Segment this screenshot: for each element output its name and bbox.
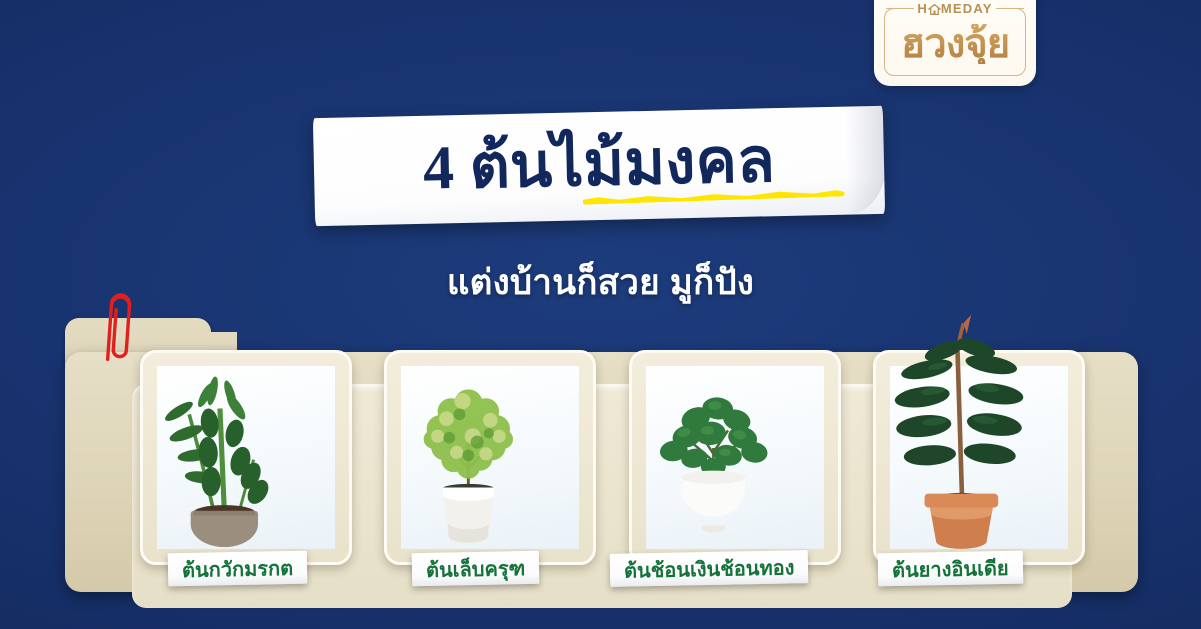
logo-brand-row: H MEDAY [874,1,1036,16]
homeday-logo-badge: H MEDAY ฮวงจุ้ย [874,0,1036,86]
plant-card[interactable] [873,350,1085,565]
aralia-plant-photo [401,366,579,549]
plant-label: ต้นยางอินเดีย [878,551,1023,587]
brand-wordmark: H MEDAY [914,1,995,16]
plant-card[interactable] [629,350,841,565]
logo-rule-left [886,8,908,9]
plant-label: ต้นช้อนเงินช้อนทอง [610,550,809,587]
plant-label: ต้นกวักมรกต [168,551,308,587]
plant-card[interactable] [384,350,596,565]
paperclip-icon [101,287,136,365]
brand-part-h: H [917,1,928,16]
peperomia-plant-photo [646,366,824,549]
house-icon [928,3,941,16]
page-subtitle: แต่งบ้านก็สวย มูก็ปัง [0,255,1201,310]
zz-plant-photo [157,366,335,549]
poster-canvas: H MEDAY ฮวงจุ้ย 4 ต้นไม้มงคล แต่งบ้านก็ส… [0,0,1201,629]
plant-card-row [140,350,1085,565]
logo-rule-right [1002,8,1024,9]
plant-card[interactable] [140,350,352,565]
page-title: 4 ต้นไม้มงคล [313,128,884,202]
rubber-plant-photo [890,366,1068,549]
title-banner: 4 ต้นไม้มงคล [313,106,885,226]
plant-label: ต้นเล็บครุฑ [412,551,540,586]
logo-thai-name: ฮวงจุ้ย [901,24,1009,64]
brand-part-meday: MEDAY [941,1,993,16]
plant-label-row: ต้นกวักมรกต ต้นเล็บครุฑ ต้นช้อนเงินช้อนท… [140,552,1085,586]
